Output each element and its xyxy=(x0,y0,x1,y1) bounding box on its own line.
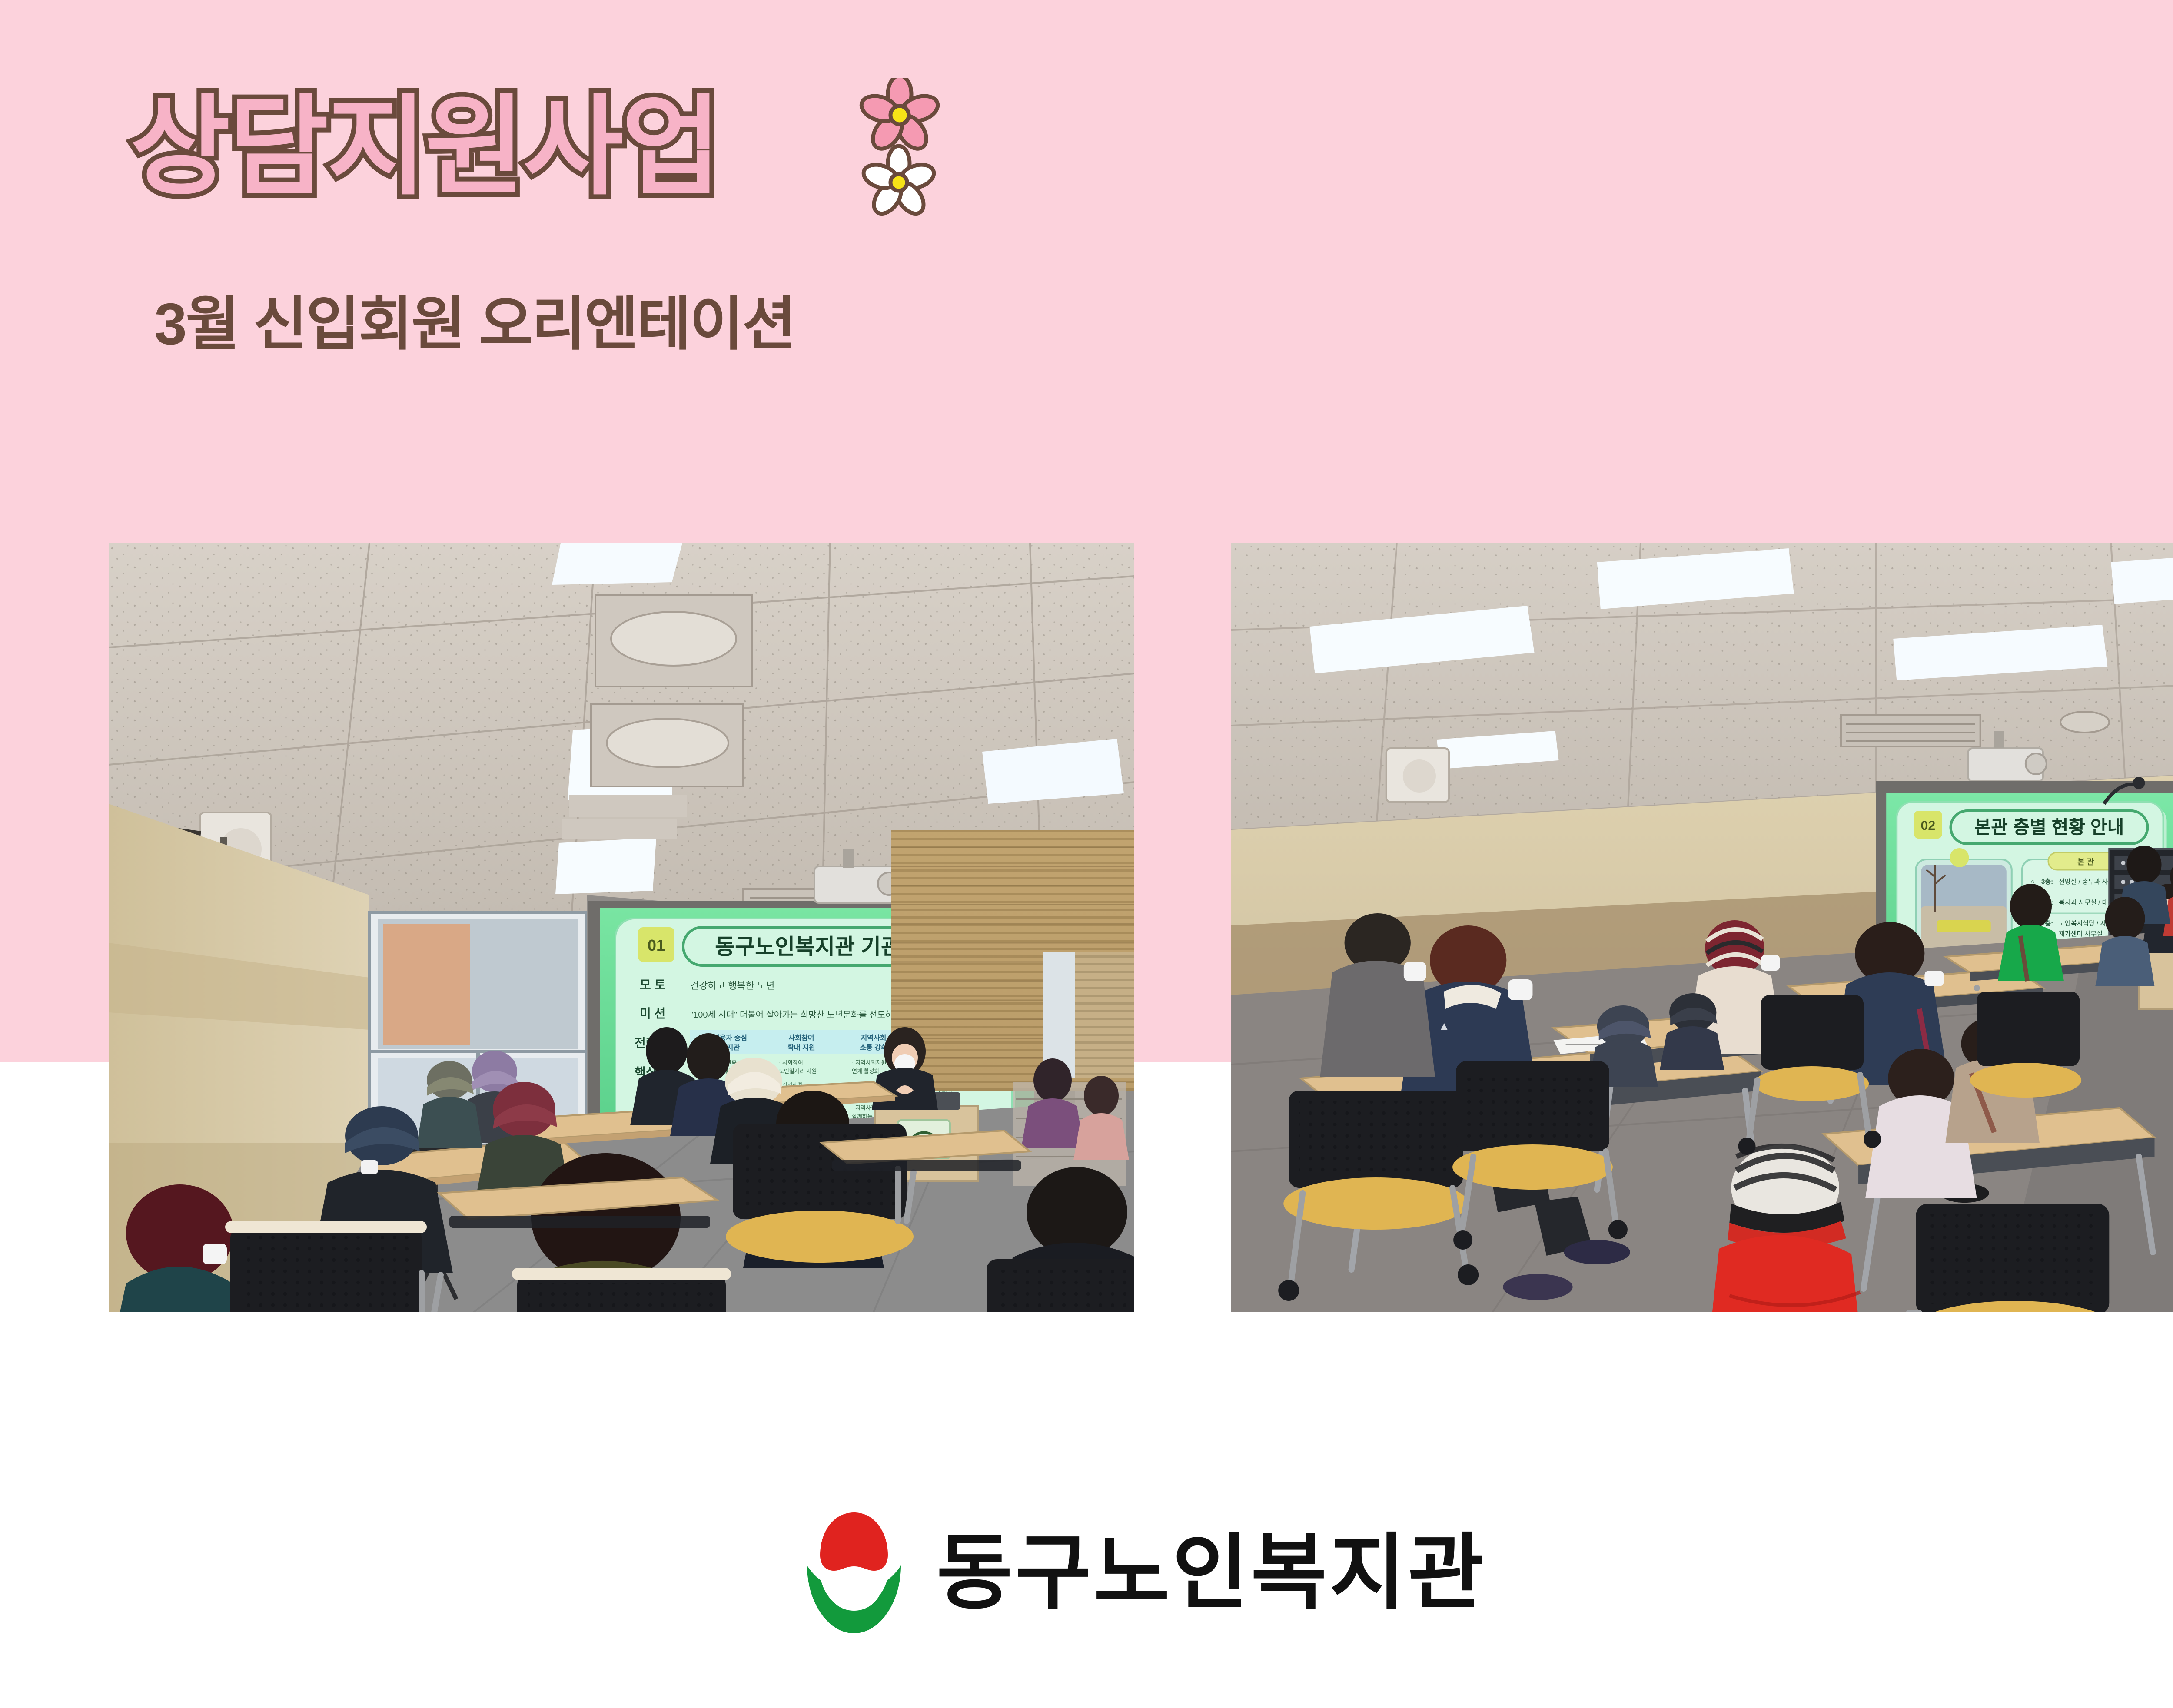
svg-text:연계 활성화: 연계 활성화 xyxy=(852,1068,879,1075)
flower-decoration-group xyxy=(843,78,956,222)
logo-wordmark: 동구노인복지관 xyxy=(937,1532,1487,1614)
page-title: 상담지원사업 xyxy=(130,83,720,211)
svg-text:지역사회: 지역사회 xyxy=(861,1034,887,1042)
svg-text:01: 01 xyxy=(648,936,665,954)
poster-canvas: 상담지원사업 xyxy=(0,0,2173,1708)
svg-text:본 관: 본 관 xyxy=(2077,858,2094,866)
photo-left-scene: 01 동구노인복지관 기관 소개 모 토 건강하고 행복한 노년 미 션 "10… xyxy=(109,543,1134,1312)
organization-logo: 동구노인복지관 xyxy=(802,1501,1567,1645)
svg-text:확대 지원: 확대 지원 xyxy=(787,1043,815,1051)
photo-orientation-room-seats: 02 본관 층별 현황 안내 본 관 ○3층: 전망실 xyxy=(1231,543,2173,1312)
wall-speaker xyxy=(1386,748,1449,802)
svg-text:3층:: 3층: xyxy=(2041,878,2053,886)
svg-text:사회참여: 사회참여 xyxy=(789,1034,814,1042)
flower-pink-icon xyxy=(858,78,941,154)
poster-header: 상담지원사업 xyxy=(130,83,1043,387)
title-row: 상담지원사업 xyxy=(130,83,1043,248)
svg-text:소통 강화: 소통 강화 xyxy=(860,1043,887,1051)
photo-right-scene: 02 본관 층별 현황 안내 본 관 ○3층: 전망실 xyxy=(1231,543,2173,1312)
page-subtitle: 3월 신입회원 오리엔테이션 xyxy=(154,276,795,361)
svg-text:· 사회참여: · 사회참여 xyxy=(779,1059,803,1066)
svg-text:▲: ▲ xyxy=(1439,1019,1450,1032)
svg-text:노인일자리 지원: 노인일자리 지원 xyxy=(779,1068,817,1075)
svg-text:미 션: 미 션 xyxy=(640,1007,665,1020)
flower-white-icon xyxy=(861,146,937,219)
svg-text:본관 층별 현황 안내: 본관 층별 현황 안내 xyxy=(1974,817,2124,837)
svg-text:02: 02 xyxy=(1921,819,1935,833)
svg-text:모 토: 모 토 xyxy=(640,978,665,992)
svg-text:· 지역사회자원: · 지역사회자원 xyxy=(852,1059,887,1066)
photo-orientation-room-wide: 01 동구노인복지관 기관 소개 모 토 건강하고 행복한 노년 미 션 "10… xyxy=(109,543,1134,1312)
dongu-welfare-center-logo-mark xyxy=(802,1510,906,1636)
svg-text:건강하고 행복한 노년: 건강하고 행복한 노년 xyxy=(690,980,774,991)
